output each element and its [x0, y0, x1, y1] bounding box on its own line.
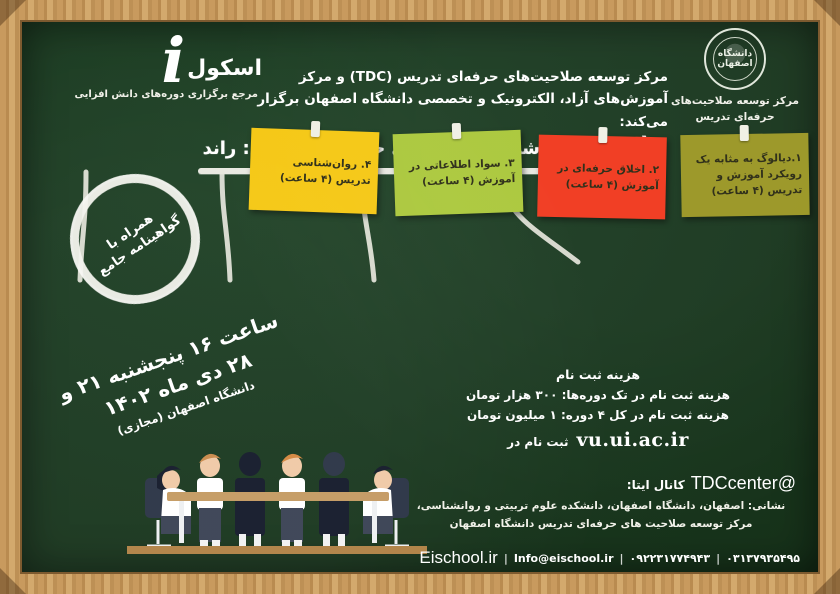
fee-bundle: هزینه ثبت نام در کل ۴ دوره: ۱ میلیون توم… [398, 405, 798, 425]
email-link[interactable]: Info@eischool.ir [514, 552, 614, 565]
frame-corner-bottom-right [814, 568, 840, 594]
course-card-3-text: ۳. سواد اطلاعاتی در آموزش (۴ ساعت) [400, 155, 515, 191]
course-card-1[interactable]: ۱.دیالوگ به مثابه یک رویکرد آموزش و تدری… [680, 133, 809, 217]
course-card-4[interactable]: ۴. روان‌شناسی تدریس (۴ ساعت) [249, 128, 380, 214]
website-link[interactable]: Eischool.ir [419, 548, 497, 568]
course-card-2-text: ۲. اخلاق حرفه‌ای در آموزش (۴ ساعت) [545, 160, 660, 195]
table-top [167, 492, 389, 501]
poster-root: اسکول i مرجع برگزاری دوره‌های دانش افزای… [0, 0, 840, 594]
registration-fee-block: هزینه ثبت نام هزینه ثبت نام در تک دوره‌ه… [398, 367, 798, 451]
pin-icon [311, 121, 321, 137]
university-center-line2: حرفه‌ای تدریس [660, 110, 810, 126]
footer-contact-bar: Eischool.ir | Info@eischool.ir | ۰۹۲۲۳۱۷… [419, 548, 800, 568]
university-seal-icon: دانشگاه اصفهان [704, 28, 766, 90]
brand-logo: اسکول i مرجع برگزاری دوره‌های دانش افزای… [32, 36, 262, 100]
chalkboard: اسکول i مرجع برگزاری دوره‌های دانش افزای… [22, 22, 818, 572]
brand-tagline: مرجع برگزاری دوره‌های دانش افزایی [32, 89, 262, 100]
course-card-1-text: ۱.دیالوگ به مثابه یک رویکرد آموزش و تدری… [688, 150, 803, 201]
university-logo-block: دانشگاه اصفهان مرکز توسعه صلاحیت‌های حرف… [660, 28, 810, 126]
frame-corner-top-left [0, 0, 26, 26]
frame-corner-top-right [814, 0, 840, 26]
pin-icon [452, 123, 462, 139]
registration-link-row[interactable]: vu.ui.ac.ir ثبت نام در [398, 429, 798, 451]
phone-number: ۰۳۱۳۷۹۳۵۴۹۵ [726, 552, 800, 565]
certificate-stamp: همراه با گواهینامه جامع [70, 174, 200, 304]
brand-row: اسکول i [32, 36, 262, 87]
registration-label: ثبت نام در [507, 435, 568, 449]
separator-1: | [504, 552, 508, 565]
eita-channel[interactable]: @TDCcenter کانال ایتا: [627, 473, 796, 494]
separator-3: | [716, 552, 720, 565]
address-text: نشانی: اصفهان، دانشگاه اصفهان، دانشکده ع… [406, 498, 796, 534]
course-card-4-text: ۴. روان‌شناسی تدریس (۴ ساعت) [256, 153, 371, 189]
fee-single-course: هزینه ثبت نام در تک دوره‌ها: ۳۰۰ هزار تو… [398, 385, 798, 405]
frame-corner-bottom-left [0, 568, 26, 594]
university-center-name: مرکز توسعه صلاحیت‌های حرفه‌ای تدریس [660, 94, 810, 126]
eita-handle[interactable]: @TDCcenter [691, 473, 796, 494]
person-3 [279, 454, 305, 550]
stamp-text: همراه با گواهینامه جامع [45, 149, 225, 329]
course-card-2[interactable]: ۲. اخلاق حرفه‌ای در آموزش (۴ ساعت) [537, 135, 667, 220]
university-center-line1: مرکز توسعه صلاحیت‌های [660, 94, 810, 110]
university-seal-inner: دانشگاه اصفهان [713, 37, 757, 81]
course-card-3[interactable]: ۳. سواد اطلاعاتی در آموزش (۴ ساعت) [393, 130, 524, 216]
person-1 [197, 454, 223, 550]
pin-icon [598, 127, 607, 143]
registration-url[interactable]: vu.ui.ac.ir [577, 429, 689, 451]
brand-i-mark-icon: i [162, 36, 184, 87]
meeting-illustration [127, 436, 427, 554]
separator-2: | [620, 552, 624, 565]
eita-label: کانال ایتا: [627, 478, 685, 492]
mobile-number: ۰۹۲۲۳۱۷۷۴۹۴۳ [630, 552, 711, 565]
floor-strip [127, 546, 427, 554]
fee-title: هزینه ثبت نام [398, 367, 798, 382]
pin-icon [740, 125, 749, 141]
